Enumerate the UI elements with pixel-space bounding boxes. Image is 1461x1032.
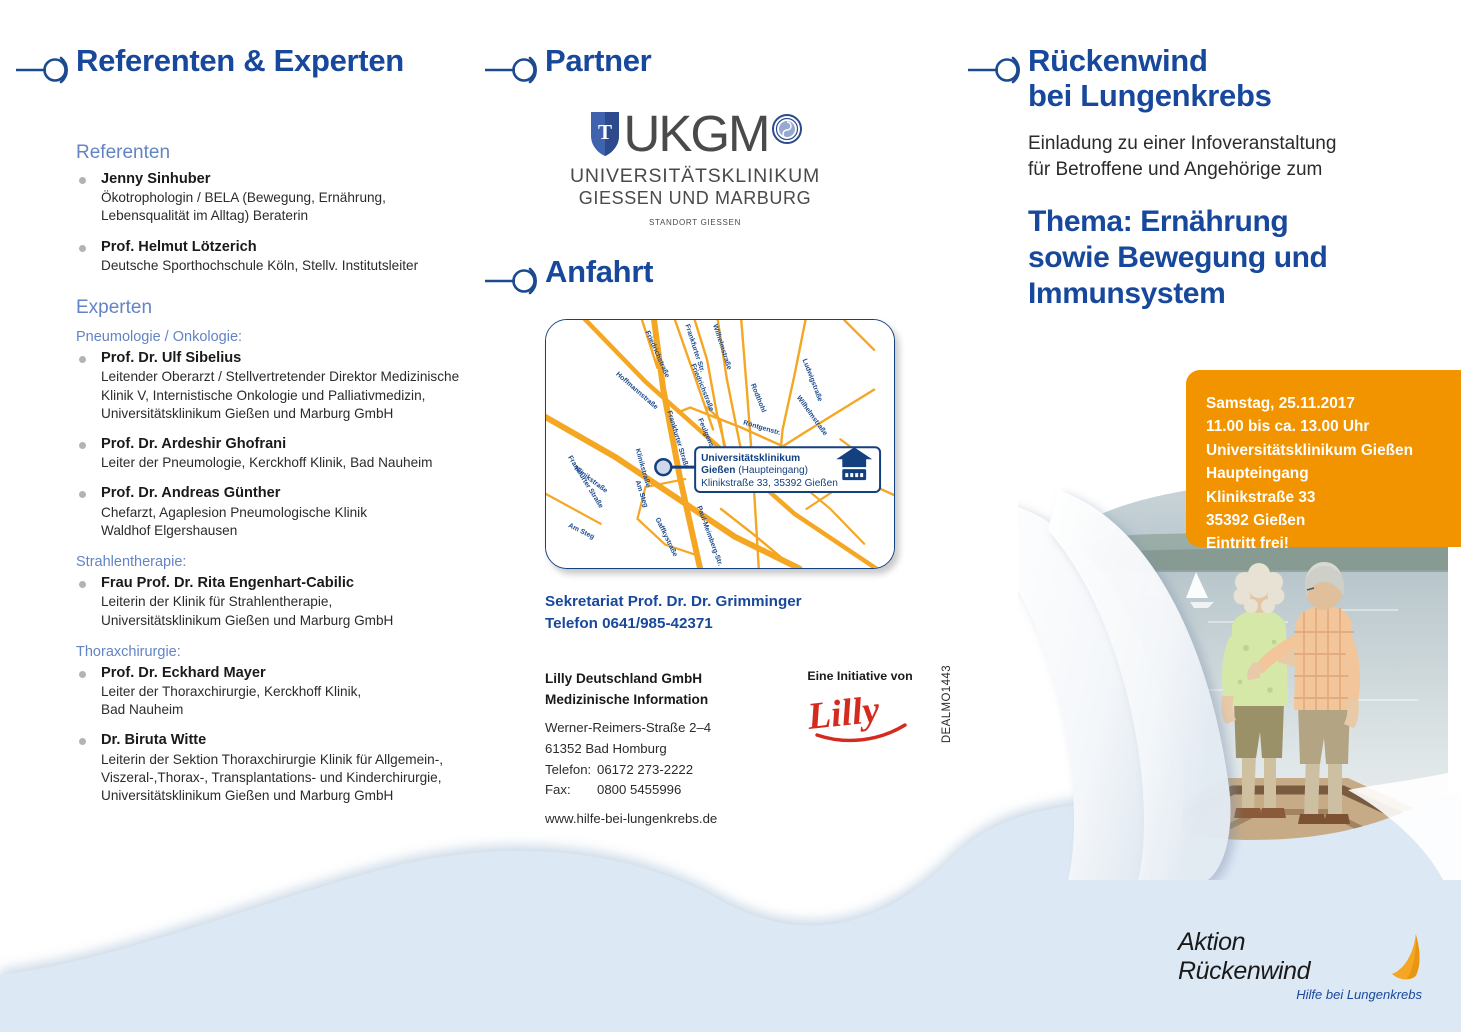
line-circle-icon	[483, 261, 545, 301]
person-name: Dr. Biruta Witte	[101, 731, 484, 750]
lilly-company-line-1: Lilly Deutschland GmbH	[545, 669, 745, 690]
list-item: Prof. Dr. Andreas Günther Chefarzt, Agap…	[76, 484, 484, 540]
person-name: Jenny Sinhuber	[101, 170, 484, 189]
person-desc: Chefarzt, Agaplesion Pneumologische Klin…	[101, 504, 484, 540]
subhead-experten: Experten	[76, 297, 484, 319]
location-map[interactable]: Klinikstraße Hoffmannstraße Frankfurter …	[545, 319, 895, 569]
person-name: Prof. Dr. Andreas Günther	[101, 484, 484, 503]
lilly-address-block: Lilly Deutschland GmbH Medizinische Info…	[545, 669, 953, 826]
brochure-page: Referenten & Experten Referenten Jenny S…	[0, 0, 1461, 1032]
secretariat-name: Sekretariat Prof. Dr. Dr. Grimminger	[545, 591, 953, 613]
column-partner-anfahrt: Partner T UKGM UNIVERSITÄTSKLINIKUM GI	[483, 44, 953, 826]
line-circle-icon	[483, 50, 545, 90]
event-admission: Eintritt frei!	[1206, 532, 1445, 555]
ukgm-seal-icon	[771, 113, 803, 145]
person-desc: Leiterin der Klinik für Strahlentherapie…	[101, 593, 484, 629]
lilly-website-link[interactable]: www.hilfe-bei-lungenkrebs.de	[545, 811, 745, 826]
column-referenten-experten: Referenten & Experten Referenten Jenny S…	[14, 44, 484, 819]
event-venue: Universitätsklinikum Gießen	[1206, 439, 1445, 462]
list-item: Prof. Dr. Ardeshir Ghofrani Leiter der P…	[76, 435, 484, 472]
lilly-company-line-2: Medizinische Information	[545, 690, 745, 711]
section-header-anfahrt: Anfahrt	[483, 255, 953, 301]
map-callout-line3: Klinikstraße 33, 35392 Gießen	[701, 478, 838, 489]
event-title-line-1: Rückenwind	[1028, 44, 1272, 79]
event-date: Samstag, 25.11.2017	[1206, 392, 1445, 415]
list-item: Prof. Dr. Ulf Sibelius Leitender Oberarz…	[76, 349, 484, 423]
lilly-fax-row: Fax: 0800 5455996	[545, 780, 745, 801]
secretariat-contact: Sekretariat Prof. Dr. Dr. Grimminger Tel…	[545, 591, 953, 635]
person-desc: Deutsche Sporthochschule Köln, Stellv. I…	[101, 257, 484, 275]
lilly-phone-label: Telefon:	[545, 760, 597, 781]
lilly-fax-label: Fax:	[545, 780, 597, 801]
section-title-anfahrt: Anfahrt	[545, 255, 653, 290]
lilly-phone-row: Telefon: 06172 273-2222	[545, 760, 745, 781]
event-details-box: Samstag, 25.11.2017 11.00 bis ca. 13.00 …	[1186, 370, 1461, 547]
section-header-partner: Partner	[483, 44, 953, 90]
document-code: DEALMO1443	[941, 665, 953, 743]
svg-text:T: T	[597, 120, 611, 144]
category-label-strahlentherapie: Strahlentherapie:	[76, 554, 484, 570]
event-title-line-2: bei Lungenkrebs	[1028, 79, 1272, 114]
svg-text:Lilly: Lilly	[805, 691, 882, 738]
section-title-partner: Partner	[545, 44, 651, 79]
line-circle-icon	[14, 50, 76, 90]
event-time: 11.00 bis ca. 13.00 Uhr	[1206, 415, 1445, 438]
list-item: Dr. Biruta Witte Leiterin der Sektion Th…	[76, 731, 484, 805]
person-desc: Ökotrophologin / BELA (Bewegung, Ernähru…	[101, 189, 484, 225]
ukgm-line-2: GIESSEN UND MARBURG	[545, 188, 845, 209]
column-event-info: Rückenwind bei Lungenkrebs Einladung zu …	[966, 44, 1446, 312]
lilly-fax-value: 0800 5455996	[597, 780, 681, 801]
event-lead-text: Einladung zu einer Infoveranstaltung für…	[1028, 131, 1428, 182]
line-circle-icon	[966, 50, 1028, 90]
list-item: Frau Prof. Dr. Rita Engenhart-Cabilic Le…	[76, 574, 484, 630]
secretariat-phone: Telefon 0641/985-42371	[545, 613, 953, 635]
experten-list-thoraxchirurgie: Prof. Dr. Eckhard Mayer Leiter der Thora…	[76, 664, 484, 806]
ukgm-shield-icon: T	[588, 109, 622, 159]
event-title: Rückenwind bei Lungenkrebs	[1028, 44, 1272, 113]
section-header-referenten-experten: Referenten & Experten	[14, 44, 484, 90]
person-name: Prof. Helmut Lötzerich	[101, 238, 484, 257]
ukgm-line-1: UNIVERSITÄTSKLINIKUM	[545, 165, 845, 188]
person-desc: Leiter der Pneumologie, Kerckhoff Klinik…	[101, 454, 484, 472]
map-marker-icon[interactable]	[655, 459, 671, 475]
map-graphic: Klinikstraße Hoffmannstraße Frankfurter …	[546, 320, 894, 569]
experten-list-strahlentherapie: Frau Prof. Dr. Rita Engenhart-Cabilic Le…	[76, 574, 484, 630]
referenten-list: Jenny Sinhuber Ökotrophologin / BELA (Be…	[76, 170, 484, 275]
person-name: Prof. Dr. Eckhard Mayer	[101, 664, 484, 683]
person-name: Prof. Dr. Ardeshir Ghofrani	[101, 435, 484, 454]
map-callout-line2: Gießen (Haupteingang)	[701, 465, 808, 476]
person-desc: Leiter der Thoraxchirurgie, Kerckhoff Kl…	[101, 683, 484, 719]
person-desc: Leiterin der Sektion Thoraxchirurgie Kli…	[101, 751, 484, 806]
list-item: Prof. Dr. Eckhard Mayer Leiter der Thora…	[76, 664, 484, 720]
page-title: Referenten & Experten	[76, 44, 404, 79]
list-item: Prof. Helmut Lötzerich Deutsche Sporthoc…	[76, 238, 484, 275]
lilly-city: 61352 Bad Homburg	[545, 739, 745, 760]
category-label-thoraxchirurgie: Thoraxchirurgie:	[76, 644, 484, 660]
lilly-street: Werner-Reimers-Straße 2–4	[545, 718, 745, 739]
section-header-rueckenwind: Rückenwind bei Lungenkrebs	[966, 44, 1446, 113]
event-street: Klinikstraße 33	[1206, 486, 1445, 509]
list-item: Jenny Sinhuber Ökotrophologin / BELA (Be…	[76, 170, 484, 226]
ukgm-wordmark: UKGM	[624, 104, 769, 163]
lilly-logo: Lilly	[801, 691, 919, 748]
event-city: 35392 Gießen	[1206, 509, 1445, 532]
person-name: Frau Prof. Dr. Rita Engenhart-Cabilic	[101, 574, 484, 593]
experten-list-pneumologie: Prof. Dr. Ulf Sibelius Leitender Oberarz…	[76, 349, 484, 540]
brand-name: Aktion Rückenwind	[1178, 928, 1382, 986]
ukgm-line-3: STANDORT GIESSEN	[545, 218, 845, 227]
category-label-pneumologie: Pneumologie / Onkologie:	[76, 329, 484, 345]
person-name: Prof. Dr. Ulf Sibelius	[101, 349, 484, 368]
sail-logo-icon	[1386, 932, 1428, 984]
map-callout-line1: Universitätsklinikum	[701, 453, 800, 464]
aktion-rueckenwind-logo: Aktion Rückenwind Hilfe bei Lungenkrebs	[1178, 928, 1428, 1002]
ukgm-logo: T UKGM UNIVERSITÄTSKLINIKUM GIESSEN UND …	[545, 104, 845, 227]
person-desc: Leitender Oberarzt / Stellvertretender D…	[101, 368, 484, 423]
lilly-phone-value: 06172 273-2222	[597, 760, 693, 781]
event-topic: Thema: Ernährung sowie Bewegung und Immu…	[1028, 204, 1428, 312]
event-entrance: Haupteingang	[1206, 462, 1445, 485]
brand-tagline: Hilfe bei Lungenkrebs	[1178, 987, 1428, 1002]
subhead-referenten: Referenten	[76, 142, 484, 164]
initiative-caption: Eine Initiative von	[801, 669, 919, 683]
